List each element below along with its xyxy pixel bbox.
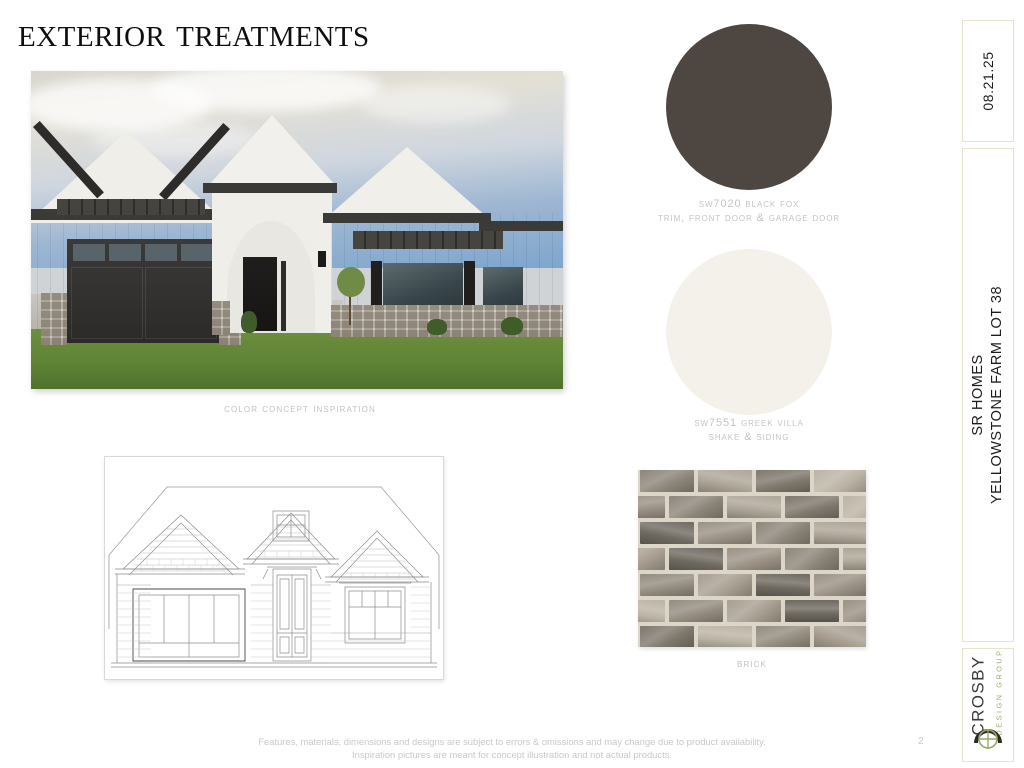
- swatch-name: SW7551 Greek Villa: [599, 417, 899, 431]
- project-identifier: SR HOMES YELLOWSTONE FARM LOT 38: [969, 286, 1007, 504]
- disclaimer-line-2: Inspiration pictures are meant for conce…: [0, 748, 1024, 761]
- brick-unit: [756, 470, 810, 492]
- exterior-sconce: [318, 251, 326, 267]
- brick-unit: [640, 522, 694, 544]
- stone-veneer: [331, 305, 563, 337]
- brick-unit: [814, 470, 866, 492]
- page-number: 2: [918, 736, 924, 747]
- brick-unit: [698, 626, 752, 647]
- color-swatch-greek-villa: [666, 249, 832, 415]
- project-name: YELLOWSTONE FARM LOT 38: [988, 286, 1007, 504]
- swatch-usage: Trim, Front Door & Garage Door: [599, 212, 899, 226]
- swatch-usage: Shake & Siding: [599, 431, 899, 445]
- brick-course: [638, 600, 866, 626]
- date-box: 08.21.25: [962, 20, 1014, 142]
- house-right-gable: [327, 147, 487, 217]
- garage-panel: [71, 267, 143, 339]
- slide-canvas: Exterior Treatments: [0, 0, 1024, 768]
- brick-unit: [669, 600, 723, 622]
- swatch-label-black-fox: SW7020 Black Fox Trim, Front Door & Gara…: [599, 198, 899, 225]
- brick-unit: [638, 600, 665, 622]
- brick-unit: [785, 548, 839, 570]
- landscape-shrub: [501, 317, 523, 335]
- photo-caption: Color Concept Inspiration: [140, 403, 460, 415]
- brick-unit: [756, 574, 810, 596]
- brick-course: [638, 548, 866, 574]
- disclaimer-text: Features, materials, dimensions and desi…: [0, 735, 1024, 761]
- material-label-brick: Brick: [652, 658, 852, 670]
- stone-veneer: [212, 301, 230, 335]
- elevation-svg: [105, 457, 443, 679]
- brick-unit: [638, 548, 665, 570]
- landscape-tree: [337, 267, 365, 297]
- brick-unit: [669, 496, 723, 518]
- inspiration-photo: [31, 71, 563, 389]
- brick-unit: [698, 574, 752, 596]
- swatch-label-greek-villa: SW7551 Greek Villa Shake & Siding: [599, 417, 899, 444]
- elevation-drawing: [104, 456, 444, 680]
- garage-window: [145, 244, 177, 261]
- house-window: [383, 263, 463, 311]
- brick-unit: [698, 470, 752, 492]
- brick-unit: [756, 522, 810, 544]
- brick-unit: [843, 496, 866, 518]
- disclaimer-line-1: Features, materials, dimensions and desi…: [0, 735, 1024, 748]
- garage-panel: [145, 267, 217, 339]
- landscape-shrub: [427, 319, 447, 335]
- brick-unit: [640, 574, 694, 596]
- brick-course: [638, 470, 866, 496]
- standing-seam-roof-accent: [57, 199, 205, 215]
- door-sidelight: [281, 261, 286, 331]
- brick-unit: [727, 548, 781, 570]
- brick-unit: [640, 626, 694, 647]
- brick-unit: [756, 626, 810, 647]
- color-swatch-black-fox: [666, 24, 832, 190]
- brick-unit: [814, 574, 866, 596]
- brick-unit: [814, 626, 866, 647]
- garage-door: [67, 239, 219, 343]
- brick-unit: [698, 522, 752, 544]
- page-title: Exterior Treatments: [18, 8, 370, 56]
- cloud-shape: [361, 85, 511, 123]
- standing-seam-roof-accent: [353, 231, 503, 249]
- house-right-eave: [323, 213, 491, 223]
- garage-window: [73, 244, 105, 261]
- brick-unit: [843, 548, 866, 570]
- brick-course: [638, 574, 866, 600]
- brick-unit: [785, 496, 839, 518]
- project-box: SR HOMES YELLOWSTONE FARM LOT 38: [962, 148, 1014, 642]
- brick-unit: [669, 548, 723, 570]
- brick-unit: [638, 496, 665, 518]
- brick-course: [638, 626, 866, 647]
- brick-course: [638, 496, 866, 522]
- client-name: SR HOMES: [969, 286, 988, 504]
- landscape-shrub: [241, 311, 257, 333]
- swatch-name: SW7020 Black Fox: [599, 198, 899, 212]
- presentation-date: 08.21.25: [980, 51, 996, 110]
- brick-unit: [814, 522, 866, 544]
- material-swatch-brick: [638, 470, 866, 647]
- house-center-gable: [207, 115, 337, 187]
- brick-unit: [843, 600, 866, 622]
- house-center-eave: [203, 183, 337, 193]
- brick-course: [638, 522, 866, 548]
- garage-window: [181, 244, 213, 261]
- house-right-eave: [479, 221, 563, 231]
- brick-unit: [640, 470, 694, 492]
- brick-unit: [785, 600, 839, 622]
- stone-veneer: [41, 293, 67, 345]
- brick-unit: [727, 600, 781, 622]
- garage-window: [109, 244, 141, 261]
- brick-unit: [727, 496, 781, 518]
